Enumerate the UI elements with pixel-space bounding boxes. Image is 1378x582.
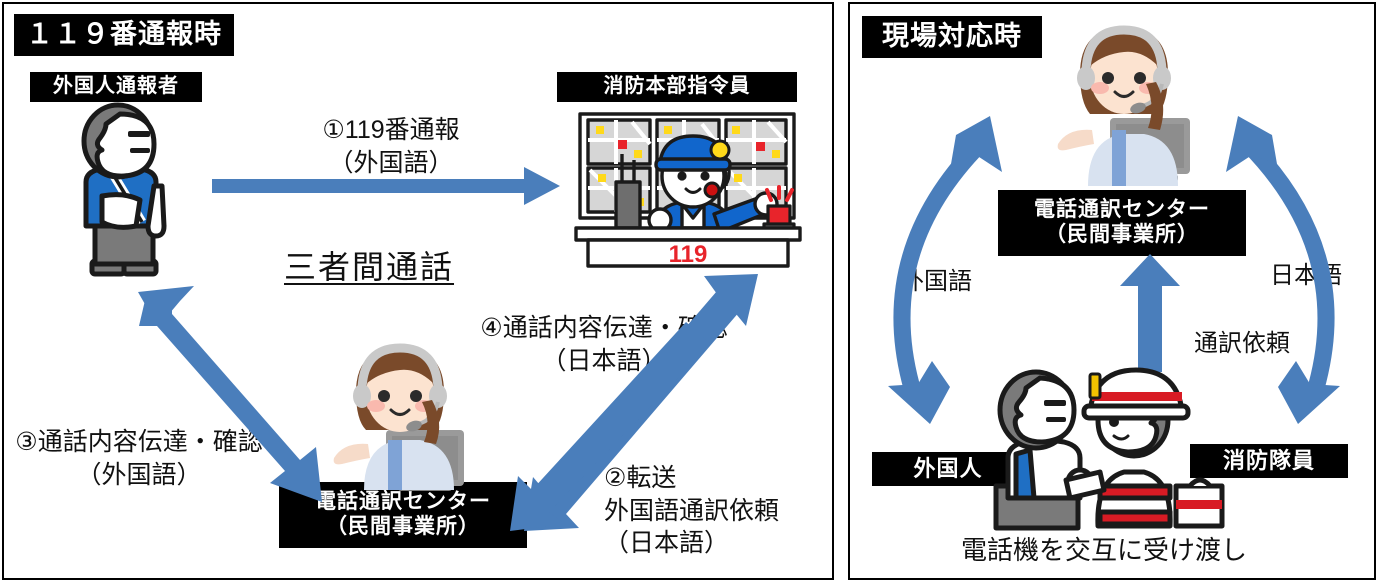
panel-119-call: １１９番通報時 外国人通報者 消防本部指令員 電話通訳センター （民間事業所） …	[2, 2, 834, 580]
fire-commander-illustration: 119	[572, 110, 804, 268]
panel-on-scene: 現場対応時 電話通訳センター （民間事業所） 外国人 消防隊員 外国語 日本語 …	[848, 2, 1376, 580]
arrow-request-interpretation	[1120, 254, 1180, 372]
interpreter-operator-illustration-right	[1046, 18, 1218, 188]
arrow-japanese	[1248, 144, 1326, 388]
desk-number-119: 119	[669, 241, 708, 268]
arrow-foreign-language	[902, 144, 980, 388]
left-arrows-layer	[4, 4, 834, 580]
arrow-step-2-4	[510, 274, 758, 531]
interpreter-operator-illustration-left	[322, 344, 494, 490]
diagram-root: １１９番通報時 外国人通報者 消防本部指令員 電話通訳センター （民間事業所） …	[0, 0, 1378, 582]
foreign-caller-illustration	[62, 104, 192, 289]
arrow-step-3	[138, 286, 322, 502]
arrow-step-1	[212, 167, 560, 205]
scene-handover-illustration	[980, 360, 1230, 532]
